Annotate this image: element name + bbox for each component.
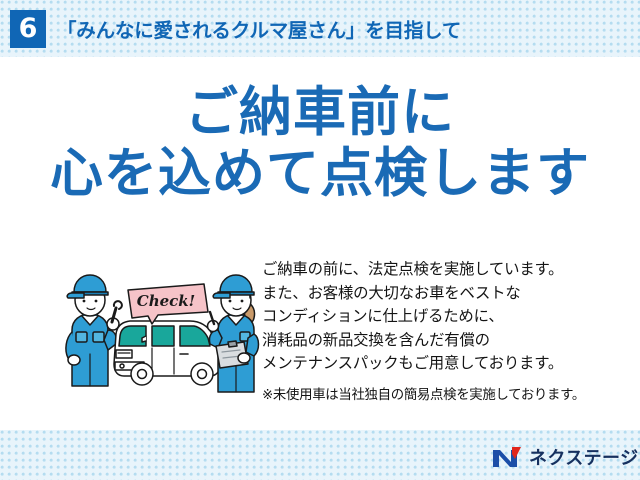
header-title: 「みんなに愛されるクルマ屋さん」を目指して — [57, 14, 461, 43]
body-line-3: コンディションに仕上げるために、 — [262, 305, 618, 329]
body-line-1: ご納車の前に、法定点検を実施しています。 — [262, 258, 618, 282]
body-copy: ご納車の前に、法定点検を実施しています。 また、お客様の大切なお車をベストな コ… — [262, 258, 618, 376]
headline: ご納車前に 心を込めて点検します — [0, 86, 640, 200]
left-mechanic — [66, 275, 122, 386]
brand-name: ネクステージ — [529, 444, 639, 470]
step-number-badge: 6 — [10, 10, 46, 48]
nexstage-n-icon — [492, 446, 522, 468]
body-line-5: メンテナンスパックもご用意しております。 — [262, 352, 618, 376]
body-line-4: 消耗品の新品交換を含んだ有償の — [262, 329, 618, 353]
inspection-promo-banner: 6 「みんなに愛されるクルマ屋さん」を目指して ご納車前に 心を込めて点検します — [0, 0, 640, 480]
headline-line-1: ご納車前に — [0, 86, 640, 139]
mechanics-illustration: Check! — [58, 268, 264, 406]
header: 6 「みんなに愛されるクルマ屋さん」を目指して — [0, 0, 640, 57]
check-bubble-label: Check! — [137, 292, 196, 310]
body-line-2: また、お客様の大切なお車をベストな — [262, 282, 618, 306]
brand-logo: ネクステージ — [492, 444, 639, 470]
white-van — [114, 321, 220, 385]
headline-line-2: 心を込めて点検します — [0, 147, 640, 200]
body-note: ※未使用車は当社独自の簡易点検を実施しております。 — [262, 383, 622, 403]
